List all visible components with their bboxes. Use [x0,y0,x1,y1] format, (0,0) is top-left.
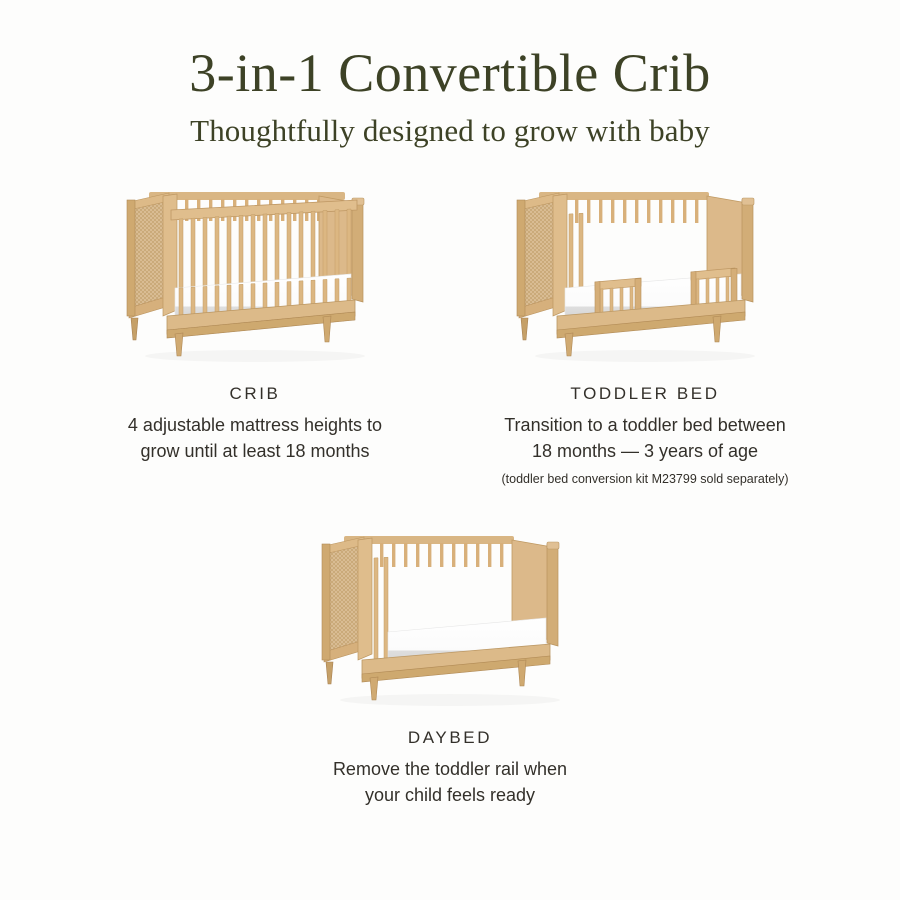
config-fine-print: (toddler bed conversion kit M23799 sold … [475,471,815,489]
configuration-card-crib: CRIB 4 adjustable mattress heights to gr… [60,170,450,464]
config-label: TODDLER BED [475,384,815,404]
page-title: 3-in-1 Convertible Crib [0,44,900,102]
config-description: 4 adjustable mattress heights to grow un… [85,412,425,464]
cane-panel [131,198,167,312]
config-description: Transition to a toddler bed between 18 m… [475,412,815,464]
leg-front-right [713,316,721,342]
cane-panel [521,198,557,312]
cane-panel [326,542,362,656]
leg-back-left [521,318,528,340]
daybed-illustration [300,514,600,714]
leg-front-right [323,316,331,342]
leg-back-left [131,318,138,340]
configuration-card-toddler-bed: TODDLER BED Transition to a toddler bed … [450,170,840,488]
caption-crib: CRIB 4 adjustable mattress heights to gr… [85,384,425,464]
caption-daybed: DAYBED Remove the toddler rail when your… [280,728,620,808]
crib-illustration [105,170,405,370]
configuration-row-bottom: DAYBED Remove the toddler rail when your… [0,514,900,808]
config-label: DAYBED [280,728,620,748]
configuration-card-daybed: DAYBED Remove the toddler rail when your… [255,514,645,808]
leg-front-right [518,660,526,686]
page-subtitle: Thoughtfully designed to grow with baby [0,114,900,148]
left-front-slats [374,558,388,666]
config-description: Remove the toddler rail when your child … [280,756,620,808]
config-label: CRIB [85,384,425,404]
leg-back-left [326,662,333,684]
page-header: 3-in-1 Convertible Crib Thoughtfully des… [0,0,900,148]
toddler-bed-illustration [495,170,795,370]
configuration-row-top: CRIB 4 adjustable mattress heights to gr… [0,170,900,488]
caption-toddler-bed: TODDLER BED Transition to a toddler bed … [475,384,815,488]
